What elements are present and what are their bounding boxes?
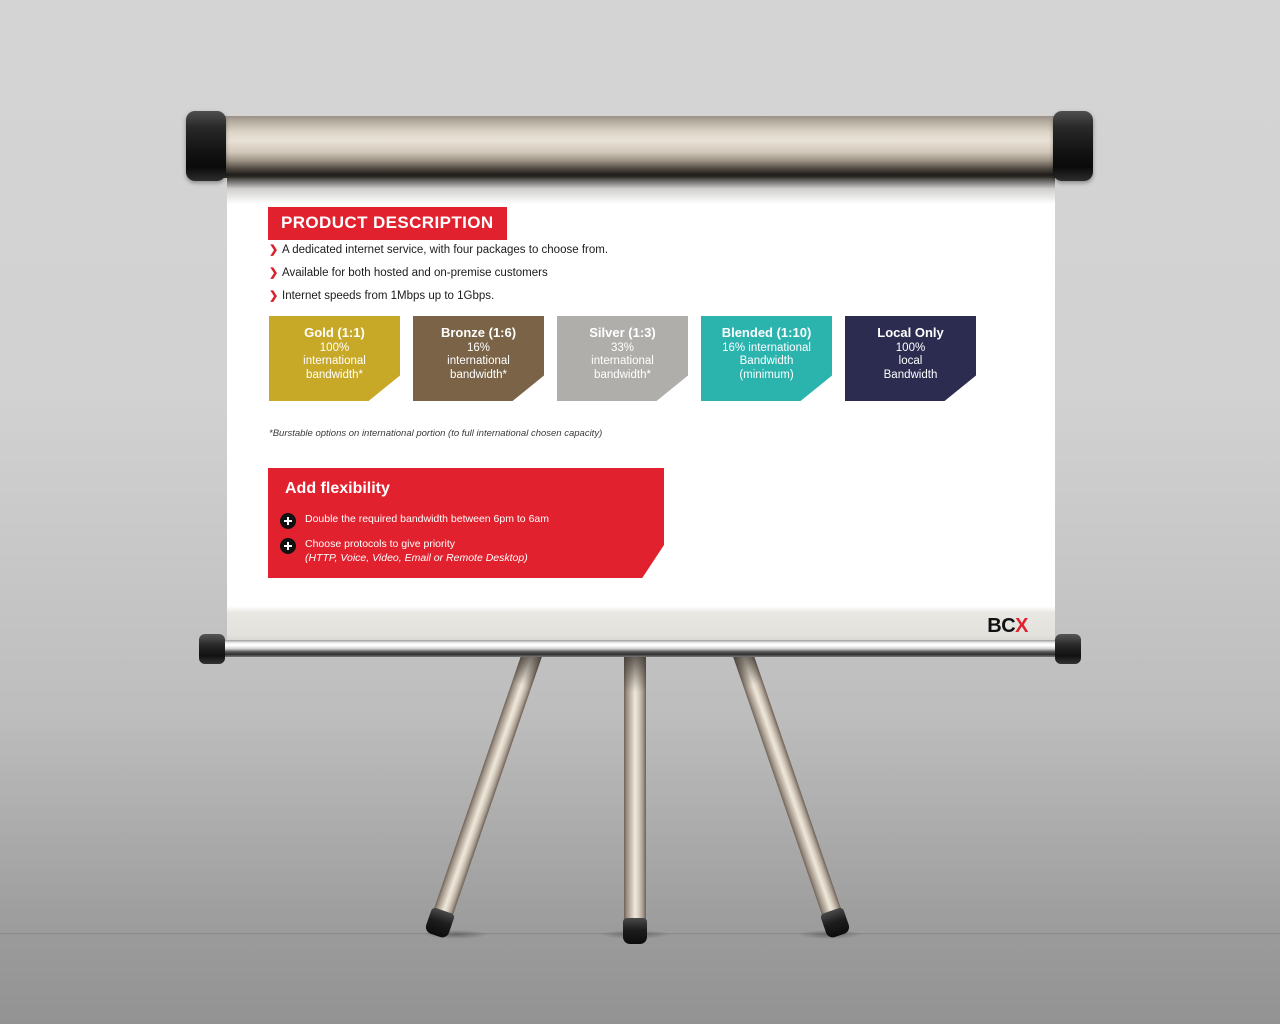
- roller-cap-left: [186, 111, 226, 181]
- flexibility-main-text: Choose protocols to give priority: [305, 538, 455, 550]
- package-description: 16% international bandwidth*: [413, 342, 544, 382]
- list-item: ❯ A dedicated internet service, with fou…: [269, 244, 969, 257]
- package-description: 33% international bandwidth*: [557, 342, 688, 382]
- logo-primary-text: BC: [987, 615, 1015, 637]
- chevron-right-icon: ❯: [269, 244, 282, 257]
- plus-icon: [280, 538, 296, 554]
- package-card-group: Gold (1:1) 100% international bandwidth*…: [269, 316, 976, 401]
- screen-weight-bar[interactable]: [212, 640, 1068, 657]
- slide-top-shadow: [227, 178, 1055, 204]
- slide-content: PRODUCT DESCRIPTION ❯ A dedicated intern…: [227, 178, 1055, 608]
- package-description: 16% international Bandwidth (minimum): [701, 342, 832, 382]
- logo-accent-text: X: [1015, 615, 1028, 637]
- projection-slide: PRODUCT DESCRIPTION ❯ A dedicated intern…: [227, 178, 1055, 608]
- tripod-leg-right: [731, 643, 844, 924]
- package-name: Blended (1:10): [701, 325, 832, 341]
- tripod-leg-left: [431, 643, 544, 924]
- footnote-text: *Burstable options on international port…: [269, 428, 602, 439]
- plus-icon: [280, 513, 296, 529]
- bullet-list: ❯ A dedicated internet service, with fou…: [269, 244, 969, 313]
- flexibility-list: Double the required bandwidth between 6p…: [280, 513, 650, 574]
- flexibility-sub-text: (HTTP, Voice, Video, Email or Remote Des…: [305, 552, 528, 566]
- bullet-text: Available for both hosted and on-premise…: [282, 267, 548, 280]
- chevron-right-icon: ❯: [269, 267, 282, 280]
- tripod-foot-center: [623, 918, 647, 944]
- panel-title: Add flexibility: [285, 480, 390, 498]
- page-title: PRODUCT DESCRIPTION: [268, 207, 507, 240]
- chevron-right-icon: ❯: [269, 290, 282, 303]
- package-description: 100% local Bandwidth: [845, 342, 976, 382]
- package-card-gold: Gold (1:1) 100% international bandwidth*: [269, 316, 400, 401]
- list-item: ❯ Available for both hosted and on-premi…: [269, 267, 969, 280]
- bullet-text: Internet speeds from 1Mbps up to 1Gbps.: [282, 290, 494, 303]
- weight-bar-cap-left: [199, 634, 225, 664]
- presentation-scene: PRODUCT DESCRIPTION ❯ A dedicated intern…: [0, 0, 1280, 1024]
- add-flexibility-panel: Add flexibility Double the required band…: [268, 468, 664, 578]
- package-card-bronze: Bronze (1:6) 16% international bandwidth…: [413, 316, 544, 401]
- flexibility-text: Choose protocols to give priority (HTTP,…: [305, 538, 528, 565]
- list-item: Double the required bandwidth between 6p…: [280, 513, 650, 529]
- package-card-local-only: Local Only 100% local Bandwidth: [845, 316, 976, 401]
- tripod-leg-center: [624, 650, 646, 925]
- package-name: Local Only: [845, 325, 976, 341]
- bullet-text: A dedicated internet service, with four …: [282, 244, 608, 257]
- package-name: Bronze (1:6): [413, 325, 544, 341]
- roller-cap-right: [1053, 111, 1093, 181]
- weight-bar-cap-right: [1055, 634, 1081, 664]
- package-card-blended: Blended (1:10) 16% international Bandwid…: [701, 316, 832, 401]
- bcx-logo: BCX: [987, 615, 1028, 638]
- list-item: ❯ Internet speeds from 1Mbps up to 1Gbps…: [269, 290, 969, 303]
- flexibility-text: Double the required bandwidth between 6p…: [305, 513, 549, 527]
- screen-roller-housing: [208, 116, 1064, 178]
- logo-area: BCX: [227, 606, 1055, 644]
- list-item: Choose protocols to give priority (HTTP,…: [280, 538, 650, 565]
- package-name: Silver (1:3): [557, 325, 688, 341]
- package-card-silver: Silver (1:3) 33% international bandwidth…: [557, 316, 688, 401]
- package-name: Gold (1:1): [269, 325, 400, 341]
- package-description: 100% international bandwidth*: [269, 342, 400, 382]
